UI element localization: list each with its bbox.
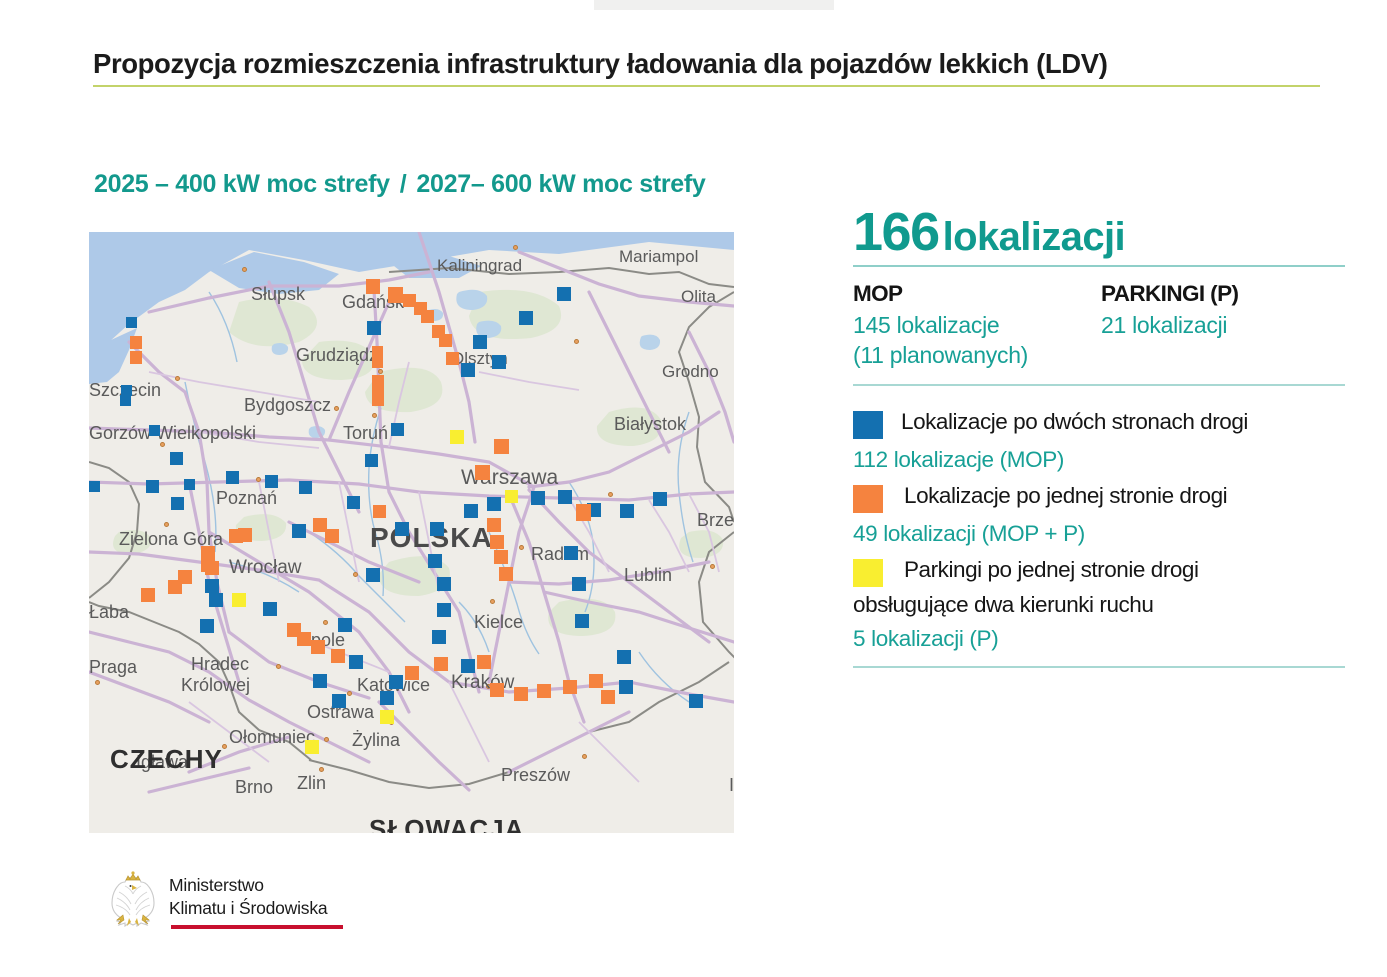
legend-count-orange: 49 lokalizacji (MOP + P) [853, 520, 1345, 547]
map-marker-blue[interactable] [265, 475, 278, 488]
map-marker-blue[interactable] [428, 554, 442, 568]
map-marker-orange[interactable] [537, 684, 551, 698]
city-dot [372, 413, 377, 418]
subtitle-left: 2025 – 400 kW moc strefy [94, 170, 390, 198]
map-marker-blue[interactable] [205, 579, 219, 593]
map-marker-blue[interactable] [184, 479, 195, 490]
legend-item-blue: Lokalizacje po dwóch stronach drogi [853, 408, 1345, 439]
map-marker-blue[interactable] [149, 425, 160, 436]
city-dot [378, 369, 383, 374]
title-underline [93, 85, 1320, 88]
map-marker-blue[interactable] [487, 497, 501, 511]
map-marker-blue[interactable] [365, 454, 378, 467]
subtitle: 2025 – 400 kW moc strefy/2027– 600 kW mo… [94, 170, 706, 199]
map-marker-orange[interactable] [372, 346, 383, 368]
map-marker-blue[interactable] [89, 481, 100, 492]
legend-label-blue: Lokalizacje po dwóch stronach drogi [901, 408, 1248, 435]
polish-eagle-emblem-icon [103, 868, 163, 932]
subtitle-separator: / [390, 170, 417, 198]
map-marker-orange[interactable] [494, 439, 509, 454]
map-marker-yellow[interactable] [505, 490, 518, 503]
map-marker-orange[interactable] [141, 588, 155, 602]
city-dot [242, 267, 247, 272]
map-marker-orange[interactable] [487, 518, 501, 532]
map-marker-blue[interactable] [437, 577, 451, 591]
map-marker-orange[interactable] [514, 687, 528, 701]
map-marker-orange[interactable] [238, 528, 252, 542]
map-marker-orange[interactable] [576, 504, 591, 521]
map-marker-blue[interactable] [389, 675, 403, 689]
map-marker-orange[interactable] [201, 546, 215, 572]
map-marker-blue[interactable] [519, 311, 533, 325]
map-marker-orange[interactable] [601, 690, 615, 704]
map-marker-orange[interactable] [297, 632, 311, 646]
map-marker-blue[interactable] [461, 363, 475, 377]
map-marker-orange[interactable] [373, 505, 386, 518]
map-marker-orange[interactable] [439, 334, 452, 347]
map-marker-blue[interactable] [332, 694, 346, 708]
map-marker-blue[interactable] [226, 471, 239, 484]
map-marker-blue[interactable] [170, 452, 183, 465]
total-locations: 166lokalizacji [853, 205, 1345, 259]
total-locations-word: lokalizacji [939, 215, 1125, 259]
map-marker-orange[interactable] [311, 640, 325, 654]
city-dot [710, 564, 715, 569]
map-marker-orange[interactable] [325, 529, 339, 543]
map-marker-blue[interactable] [395, 522, 409, 536]
map-marker-orange[interactable] [499, 567, 513, 581]
ministry-logo-line2: Klimatu i Środowiska [169, 897, 327, 920]
map-marker-blue[interactable] [464, 504, 478, 518]
city-dot [519, 545, 524, 550]
map-marker-blue[interactable] [120, 395, 131, 406]
map-legend: Lokalizacje po dwóch stronach drogi 112 … [853, 408, 1345, 668]
map-marker-orange[interactable] [475, 465, 490, 480]
map-marker-blue[interactable] [620, 504, 634, 518]
map-marker-blue[interactable] [349, 655, 363, 669]
map-marker-orange[interactable] [388, 287, 403, 303]
legend-count-yellow: 5 lokalizacji (P) [853, 625, 1345, 652]
city-dot [334, 406, 339, 411]
map-marker-blue[interactable] [171, 497, 184, 510]
city-dot [222, 744, 227, 749]
legend-label-orange: Lokalizacje po jednej stronie drogi [904, 482, 1227, 509]
city-dot [353, 572, 358, 577]
map-marker-orange[interactable] [405, 666, 419, 680]
page-title: Propozycja rozmieszczenia infrastruktury… [93, 48, 1325, 80]
map-marker-blue[interactable] [299, 481, 312, 494]
city-dot [608, 492, 613, 497]
map-marker-orange[interactable] [434, 657, 448, 671]
map-marker-blue[interactable] [380, 691, 394, 705]
map-marker-orange[interactable] [477, 655, 491, 669]
map-marker-blue[interactable] [531, 491, 545, 505]
map-marker-blue[interactable] [338, 618, 352, 632]
city-dot [347, 691, 352, 696]
map-marker-orange[interactable] [490, 535, 504, 549]
map-marker-blue[interactable] [653, 492, 667, 506]
legend-item-yellow: Parkingi po jednej stronie drogi [853, 556, 1345, 587]
legend-swatch-blue-icon [853, 411, 883, 439]
legend-item-orange: Lokalizacje po jednej stronie drogi [853, 482, 1345, 513]
stat-parkingi: PARKINGI (P) 21 lokalizacji [1101, 281, 1238, 371]
map-marker-blue[interactable] [689, 694, 703, 708]
city-dot [175, 376, 180, 381]
ministry-logo-line1: Ministerstwo [169, 874, 327, 897]
stat-parkingi-line1: 21 lokalizacji [1101, 310, 1238, 340]
city-dot [490, 599, 495, 604]
city-dot [164, 522, 169, 527]
map-marker-blue[interactable] [209, 593, 223, 607]
poland-charging-map[interactable]: SłupskGdańskKaliningradMariampolOlitaGru… [89, 232, 734, 833]
legend-label-yellow-cont: obsługujące dwa kierunki ruchu [853, 591, 1345, 618]
map-marker-orange[interactable] [168, 580, 182, 594]
city-dot [160, 442, 165, 447]
map-base-graphics [89, 232, 734, 833]
map-marker-blue[interactable] [367, 321, 381, 335]
map-marker-blue[interactable] [391, 423, 404, 436]
stat-mop-heading: MOP [853, 281, 1101, 307]
map-marker-blue[interactable] [313, 674, 327, 688]
map-marker-orange[interactable] [446, 352, 459, 365]
panel-divider-mid [853, 384, 1345, 386]
map-marker-yellow[interactable] [232, 593, 246, 607]
map-marker-orange[interactable] [589, 674, 603, 688]
city-dot [513, 245, 518, 250]
map-marker-yellow[interactable] [380, 710, 394, 724]
map-marker-blue[interactable] [292, 524, 306, 538]
city-dot [323, 620, 328, 625]
stat-mop: MOP 145 lokalizacje (11 planowanych) [853, 281, 1101, 371]
map-marker-blue[interactable] [575, 614, 589, 628]
city-dot [95, 680, 100, 685]
panel-divider-top [853, 265, 1345, 267]
map-marker-blue[interactable] [430, 522, 444, 536]
map-marker-blue[interactable] [564, 546, 578, 560]
map-marker-blue[interactable] [558, 490, 572, 504]
panel-divider-bottom [853, 666, 1345, 668]
map-marker-orange[interactable] [494, 550, 508, 564]
ministry-logo-underline [171, 925, 343, 929]
city-dot [256, 477, 261, 482]
map-marker-blue[interactable] [263, 602, 277, 616]
map-marker-blue[interactable] [146, 480, 159, 493]
stat-parkingi-heading: PARKINGI (P) [1101, 281, 1238, 307]
stat-mop-line1: 145 lokalizacje [853, 310, 1101, 340]
map-marker-blue[interactable] [432, 630, 446, 644]
map-marker-yellow[interactable] [305, 740, 319, 754]
ministry-logo-text: Ministerstwo Klimatu i Środowiska [169, 874, 327, 920]
total-locations-count: 166 [853, 202, 939, 262]
ministry-logo: Ministerstwo Klimatu i Środowiska [103, 868, 403, 948]
legend-count-blue: 112 lokalizacje (MOP) [853, 446, 1345, 473]
map-canvas: SłupskGdańskKaliningradMariampolOlitaGru… [89, 232, 734, 833]
map-marker-blue[interactable] [473, 335, 487, 349]
map-marker-orange[interactable] [130, 351, 142, 364]
map-marker-orange[interactable] [490, 683, 504, 697]
map-marker-blue[interactable] [619, 680, 633, 694]
subtitle-right: 2027– 600 kW moc strefy [416, 170, 705, 198]
legend-swatch-yellow-icon [853, 559, 883, 587]
map-marker-orange[interactable] [372, 375, 384, 406]
map-marker-orange[interactable] [563, 680, 577, 694]
city-dot [582, 754, 587, 759]
map-marker-blue[interactable] [461, 659, 475, 673]
map-marker-yellow[interactable] [450, 430, 464, 444]
map-marker-orange[interactable] [366, 279, 380, 294]
top-accent-band [594, 0, 834, 10]
map-marker-blue[interactable] [437, 603, 451, 617]
map-marker-blue[interactable] [347, 496, 360, 509]
city-dot [319, 767, 324, 772]
title-block: Propozycja rozmieszczenia infrastruktury… [93, 48, 1325, 87]
map-marker-blue[interactable] [200, 619, 214, 633]
map-marker-blue[interactable] [492, 355, 506, 369]
map-marker-blue[interactable] [126, 317, 137, 328]
map-marker-orange[interactable] [331, 649, 345, 663]
city-dot [574, 339, 579, 344]
map-marker-orange[interactable] [421, 310, 434, 323]
map-marker-orange[interactable] [130, 336, 142, 349]
map-marker-blue[interactable] [572, 577, 586, 591]
stats-row: MOP 145 lokalizacje (11 planowanych) PAR… [853, 281, 1345, 371]
map-marker-blue[interactable] [366, 568, 380, 582]
summary-panel: 166lokalizacji MOP 145 lokalizacje (11 p… [853, 205, 1345, 668]
city-dot [324, 737, 329, 742]
stat-mop-line2: (11 planowanych) [853, 340, 1101, 370]
legend-swatch-orange-icon [853, 485, 883, 513]
map-marker-blue[interactable] [557, 287, 571, 301]
map-marker-blue[interactable] [617, 650, 631, 664]
city-dot [276, 664, 281, 669]
legend-label-yellow: Parkingi po jednej stronie drogi [904, 556, 1199, 583]
